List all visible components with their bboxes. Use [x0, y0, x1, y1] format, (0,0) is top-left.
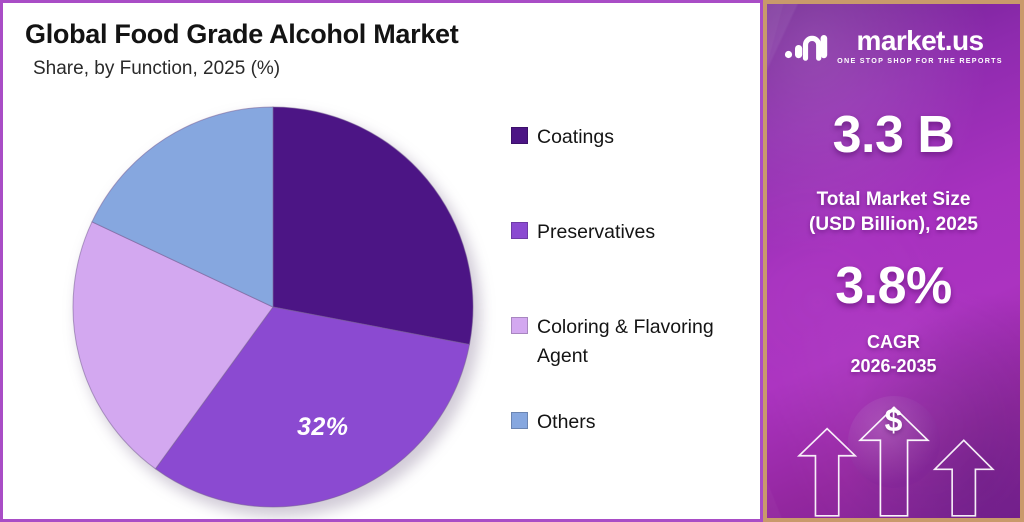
legend-swatch-icon [511, 317, 528, 334]
page-subtitle: Share, by Function, 2025 (%) [33, 58, 280, 80]
page-title: Global Food Grade Alcohol Market [25, 19, 458, 50]
logo-text: market.us ONE STOP SHOP FOR THE REPORTS [837, 26, 1003, 65]
legend-swatch-icon [511, 412, 528, 429]
legend-item-others[interactable]: Others [511, 408, 751, 503]
growth-arrows-graphic: $ [767, 378, 1020, 518]
logo-wordmark: market.us [857, 26, 984, 55]
market-size-caption: Total Market Size (USD Billion), 2025 [767, 187, 1020, 237]
cagr-caption-line2: 2026-2035 [767, 354, 1020, 378]
brand-logo[interactable]: market.us ONE STOP SHOP FOR THE REPORTS [767, 26, 1020, 65]
cagr-value: 3.8% [767, 256, 1020, 316]
cagr-caption-line1: CAGR [767, 330, 1020, 354]
legend-item-coatings[interactable]: Coatings [511, 123, 751, 218]
legend-label: Preservatives [537, 218, 655, 247]
infographic-canvas: Global Food Grade Alcohol Market Share, … [0, 0, 1024, 522]
logo-tagline: ONE STOP SHOP FOR THE REPORTS [837, 56, 1003, 65]
legend-item-coloring-flavoring-agent[interactable]: Coloring & Flavoring Agent [511, 313, 751, 408]
legend-label: Coatings [537, 123, 614, 152]
market-size-caption-line2: (USD Billion), 2025 [767, 212, 1020, 237]
pie-chart: 32% [71, 105, 475, 509]
chart-legend: Coatings Preservatives Coloring & Flavor… [511, 123, 751, 503]
pie-chart-svg [71, 105, 475, 509]
stat-panel: market.us ONE STOP SHOP FOR THE REPORTS … [763, 0, 1024, 522]
legend-item-preservatives[interactable]: Preservatives [511, 218, 751, 313]
legend-swatch-icon [511, 127, 528, 144]
arrows-svg [767, 378, 1020, 518]
pie-slice-coatings[interactable] [273, 107, 473, 344]
pie-slice-label: 32% [297, 413, 349, 442]
legend-swatch-icon [511, 222, 528, 239]
cagr-caption: CAGR 2026-2035 [767, 330, 1020, 378]
chart-panel: Global Food Grade Alcohol Market Share, … [0, 0, 763, 522]
legend-label: Coloring & Flavoring Agent [537, 313, 742, 371]
bar-chart-logo-icon [784, 31, 828, 61]
market-size-caption-line1: Total Market Size [767, 187, 1020, 212]
market-size-value: 3.3 B [767, 105, 1020, 165]
legend-label: Others [537, 408, 596, 437]
